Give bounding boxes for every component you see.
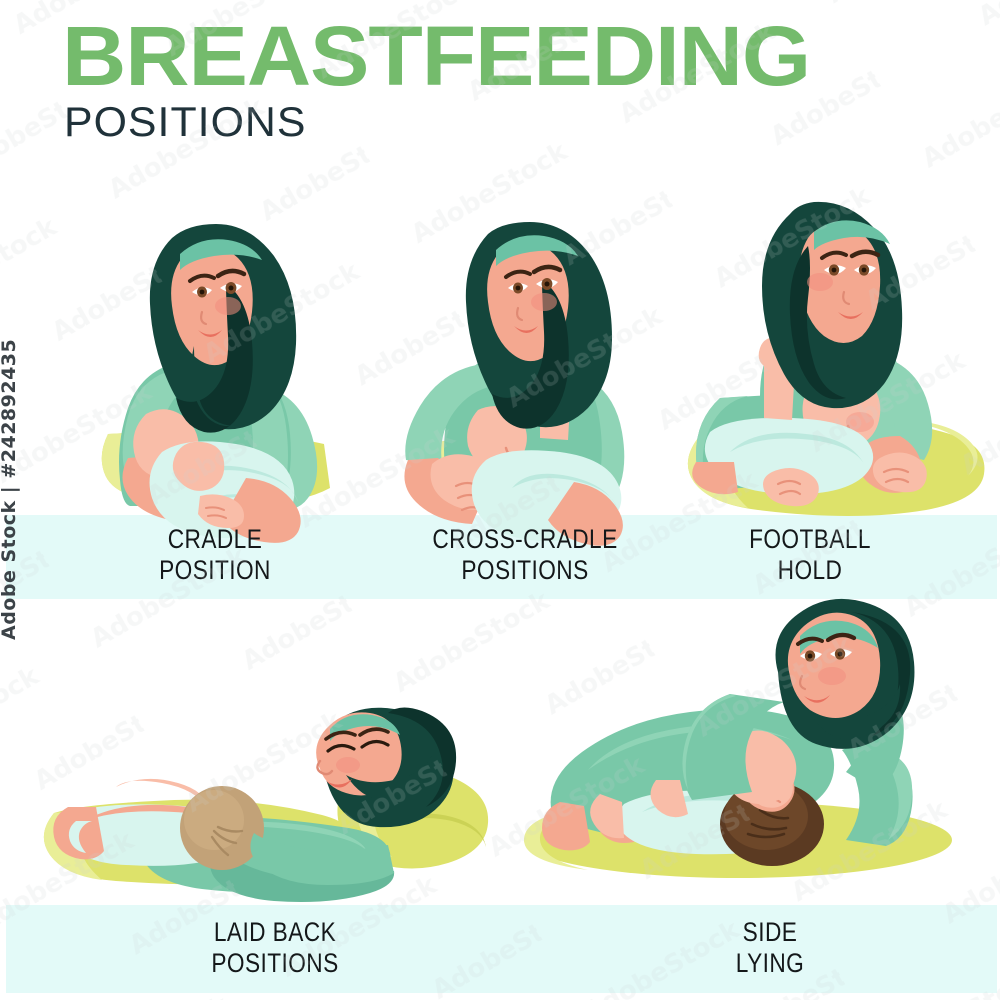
caption-line-1: SIDE bbox=[652, 917, 887, 948]
title-sub-text: POSITIONS bbox=[64, 100, 980, 144]
caption-football-hold: FOOTBALL HOLD bbox=[680, 524, 940, 586]
side-lying-position-illustration bbox=[512, 598, 962, 898]
page-title: BREASTFEEDING POSITIONS bbox=[62, 14, 962, 144]
football-hold-illustration bbox=[668, 200, 988, 506]
caption-line-1: FOOTBALL bbox=[680, 524, 940, 555]
caption-cradle-position: CRADLE POSITION bbox=[85, 524, 345, 586]
cradle-position-illustration bbox=[50, 196, 350, 506]
caption-line-1: LAID BACK bbox=[136, 917, 413, 948]
caption-line-2: POSITIONS bbox=[136, 948, 413, 979]
cross-cradle-position-illustration bbox=[360, 196, 660, 506]
caption-line-2: POSITIONS bbox=[386, 555, 663, 586]
caption-laid-back-positions: LAID BACK POSITIONS bbox=[136, 917, 413, 979]
caption-line-2: POSITION bbox=[85, 555, 345, 586]
caption-cross-cradle-positions: CROSS-CRADLE POSITIONS bbox=[386, 524, 663, 586]
laid-back-position-illustration bbox=[28, 665, 498, 905]
caption-line-1: CRADLE bbox=[85, 524, 345, 555]
caption-line-1: CROSS-CRADLE bbox=[386, 524, 663, 555]
caption-side-lying: SIDE LYING bbox=[652, 917, 887, 979]
caption-line-2: LYING bbox=[652, 948, 887, 979]
infographic-canvas: BREASTFEEDING POSITIONS bbox=[0, 0, 1000, 1000]
caption-line-2: HOLD bbox=[680, 555, 940, 586]
title-main-text: BREASTFEEDING bbox=[62, 14, 1000, 98]
